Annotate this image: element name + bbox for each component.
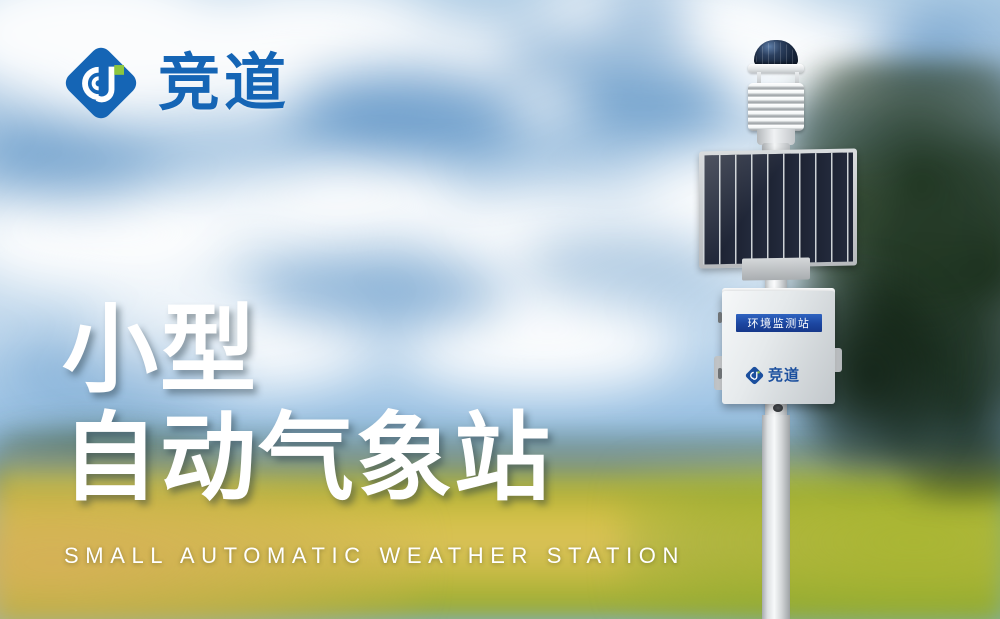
- headline-block: 小型 自动气象站: [62, 296, 702, 512]
- hero-banner: 环境监测站 竞道 竞道: [0, 0, 1000, 619]
- subtitle-text: SMALL AUTOMATIC WEATHER STATION: [64, 542, 685, 570]
- jingdao-diamond-logo-icon: [62, 44, 140, 122]
- headline-line-2: 自动气象站: [62, 404, 702, 512]
- headline-line-1: 小型: [62, 296, 702, 404]
- brand-logo-lockup[interactable]: 竞道: [62, 44, 290, 122]
- brand-name: 竞道: [158, 52, 290, 114]
- trees-right-foreground: [770, 240, 970, 510]
